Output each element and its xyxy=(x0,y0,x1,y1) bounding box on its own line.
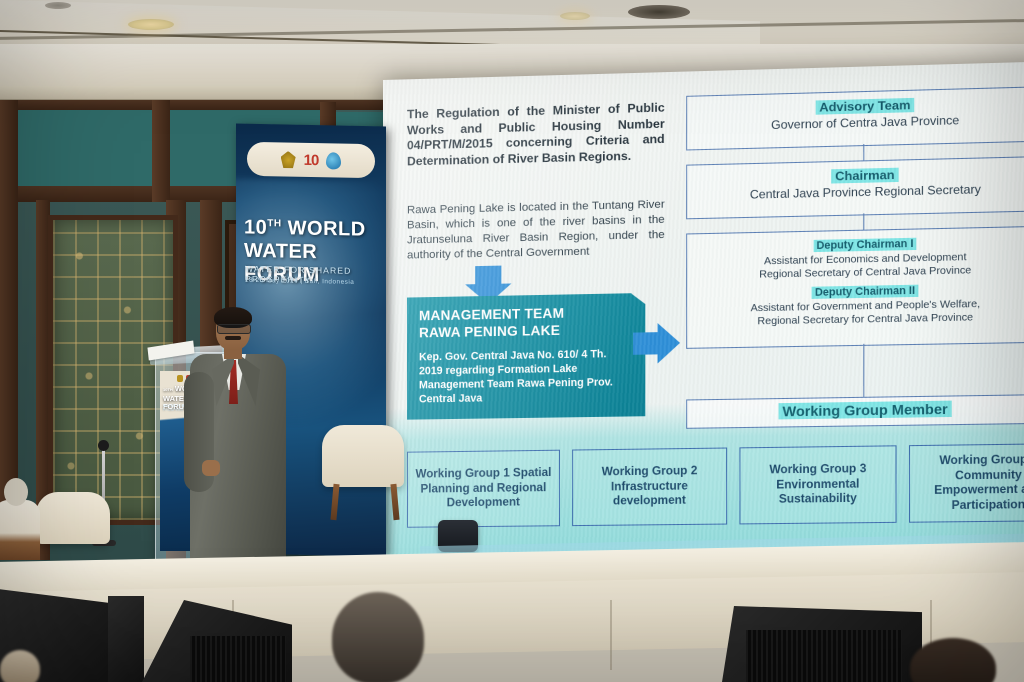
tub-chair xyxy=(322,425,404,487)
management-team-box: MANAGEMENT TEAM RAWA PENING LAKE Kep. Go… xyxy=(407,293,645,420)
banner-title-line1: WORLD xyxy=(288,217,366,240)
monitor-grille xyxy=(746,630,902,682)
stage-monitor-left-side xyxy=(108,596,144,682)
org-box-advisory-team: Advisory Team Governor of Centra Java Pr… xyxy=(686,86,1024,150)
ceiling-vent-icon xyxy=(628,5,690,19)
garuda-emblem-icon xyxy=(281,151,296,168)
working-group-box-2: Working Group 2 Infrastructure developme… xyxy=(572,448,727,527)
org-connector xyxy=(863,213,864,229)
arrow-right-icon xyxy=(633,323,657,355)
speaker-hand xyxy=(202,460,220,476)
deputy1-title: Deputy Chairman I xyxy=(813,238,916,252)
working-group-box-1: Working Group 1 Spatial Planning and Reg… xyxy=(407,450,560,528)
org-connector xyxy=(863,344,864,397)
seated-attendee-body xyxy=(0,500,40,560)
ceiling-downlight xyxy=(560,12,590,20)
ceiling-downlight xyxy=(128,19,174,30)
audience-head-front xyxy=(332,592,424,682)
speaker-person xyxy=(186,310,294,570)
management-team-title-line2: RAWA PENING LAKE xyxy=(419,321,633,341)
org-box-deputy-chairmen: Deputy Chairman I Assistant for Economic… xyxy=(686,226,1024,349)
org-box-chairman: Chairman Central Java Province Regional … xyxy=(686,156,1024,219)
conference-photo-scene: The Regulation of the Minister of Public… xyxy=(0,0,1024,682)
monitor-grille xyxy=(190,636,286,682)
audience-head-right xyxy=(910,638,996,682)
banner-edition-suffix: TH xyxy=(267,218,281,229)
working-group-member-label: Working Group Member xyxy=(778,401,951,420)
audience-head-left xyxy=(0,650,40,682)
wall-wood-rail xyxy=(0,100,440,110)
seated-attendee xyxy=(0,478,42,556)
deputy2-title: Deputy Chairman II xyxy=(812,285,918,299)
advisory-team-title: Advisory Team xyxy=(815,98,914,115)
org-connector xyxy=(863,144,864,160)
seated-attendee-head xyxy=(4,478,28,506)
microphone-icon xyxy=(98,440,109,451)
ceiling-vent-icon xyxy=(45,2,71,9)
water-drop-icon xyxy=(326,152,341,169)
slide-paragraph-bold: The Regulation of the Minister of Public… xyxy=(407,100,665,169)
org-banner-working-group-member: Working Group Member xyxy=(686,394,1024,429)
stage-panel-seam xyxy=(610,600,612,670)
management-team-body: Kep. Gov. Central Java No. 610/ 4 Th. 20… xyxy=(419,347,633,407)
tub-chair xyxy=(36,492,110,544)
podium-superscript: 10TH xyxy=(163,387,173,392)
projection-screen: The Regulation of the Minister of Public… xyxy=(383,62,1024,558)
banner-edition-number: 10 xyxy=(244,216,267,238)
wall-teal-panel xyxy=(16,108,152,190)
speaker-moustache xyxy=(225,336,241,340)
speaker-glasses-icon xyxy=(217,324,251,334)
garuda-emblem-icon xyxy=(177,375,183,382)
wall-wood-stile xyxy=(152,100,170,202)
chairman-title: Chairman xyxy=(831,168,899,184)
working-group-box-4: Working Group 4 Community Empowerment an… xyxy=(909,443,1024,523)
working-group-box-3: Working Group 3 Environmental Sustainabi… xyxy=(739,445,896,524)
tenth-edition-logo-icon: 10 xyxy=(304,151,319,168)
slide-paragraph-normal: Rawa Pening Lake is located in the Tunta… xyxy=(407,198,665,264)
banner-logo-lockup: 10 xyxy=(247,142,375,178)
